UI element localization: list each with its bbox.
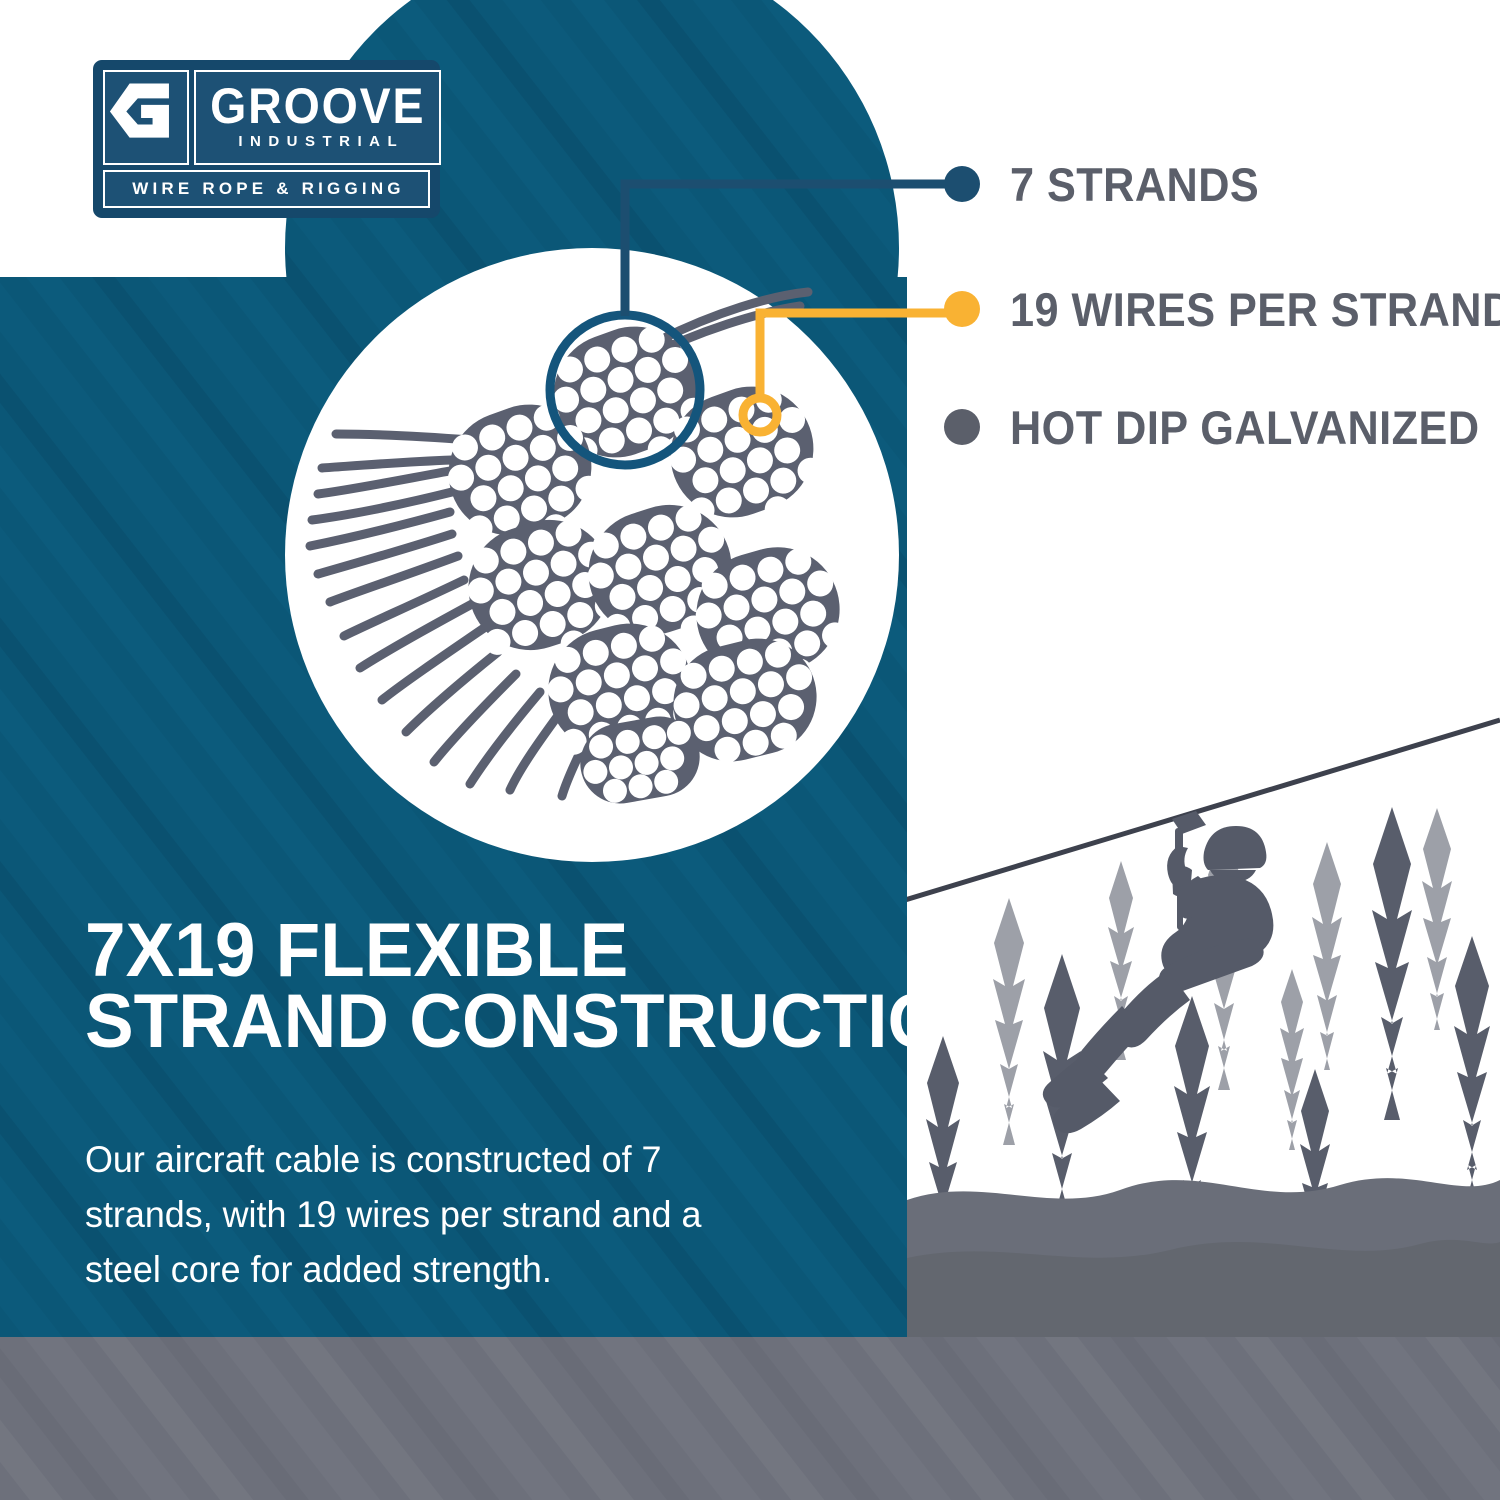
page-title: 7X19 FLEXIBLE STRAND CONSTRUCTION bbox=[85, 916, 843, 1057]
infographic-canvas: GROOVE INDUSTRIAL WIRE ROPE & RIGGING 7 … bbox=[0, 0, 1500, 1500]
forest-floor-dark bbox=[907, 1240, 1500, 1340]
brand-name: GROOVE bbox=[210, 84, 425, 129]
body-description: Our aircraft cable is constructed of 7 s… bbox=[85, 1133, 764, 1297]
brand-subname: INDUSTRIAL bbox=[231, 133, 404, 150]
callout-strands[interactable]: 7 STRANDS bbox=[944, 156, 1281, 212]
brand-tagline-bar: WIRE ROPE & RIGGING bbox=[103, 170, 430, 208]
callout-label-strands: 7 STRANDS bbox=[1010, 157, 1259, 212]
callout-dot-strands bbox=[944, 166, 980, 202]
bottom-band bbox=[0, 1337, 1500, 1500]
callout-hot-dip-galvanized[interactable]: HOT DIP GALVANIZED bbox=[944, 399, 1500, 455]
callout-wires-per-strand[interactable]: 19 WIRES PER STRAND bbox=[944, 281, 1500, 337]
callout-label-galvanized: HOT DIP GALVANIZED bbox=[1010, 400, 1480, 455]
headline-line-1: 7X19 FLEXIBLE bbox=[85, 916, 843, 987]
headline-line-2: STRAND CONSTRUCTION bbox=[85, 987, 843, 1058]
callout-dot-wires bbox=[944, 291, 980, 327]
callout-dot-galvanized bbox=[944, 409, 980, 445]
brand-logo[interactable]: GROOVE INDUSTRIAL WIRE ROPE & RIGGING bbox=[93, 60, 440, 218]
callout-label-wires: 19 WIRES PER STRAND bbox=[1010, 282, 1500, 337]
brand-tagline: WIRE ROPE & RIGGING bbox=[128, 179, 404, 199]
groove-g-logo-icon bbox=[103, 70, 189, 165]
brand-wordmark: GROOVE INDUSTRIAL bbox=[194, 70, 441, 165]
